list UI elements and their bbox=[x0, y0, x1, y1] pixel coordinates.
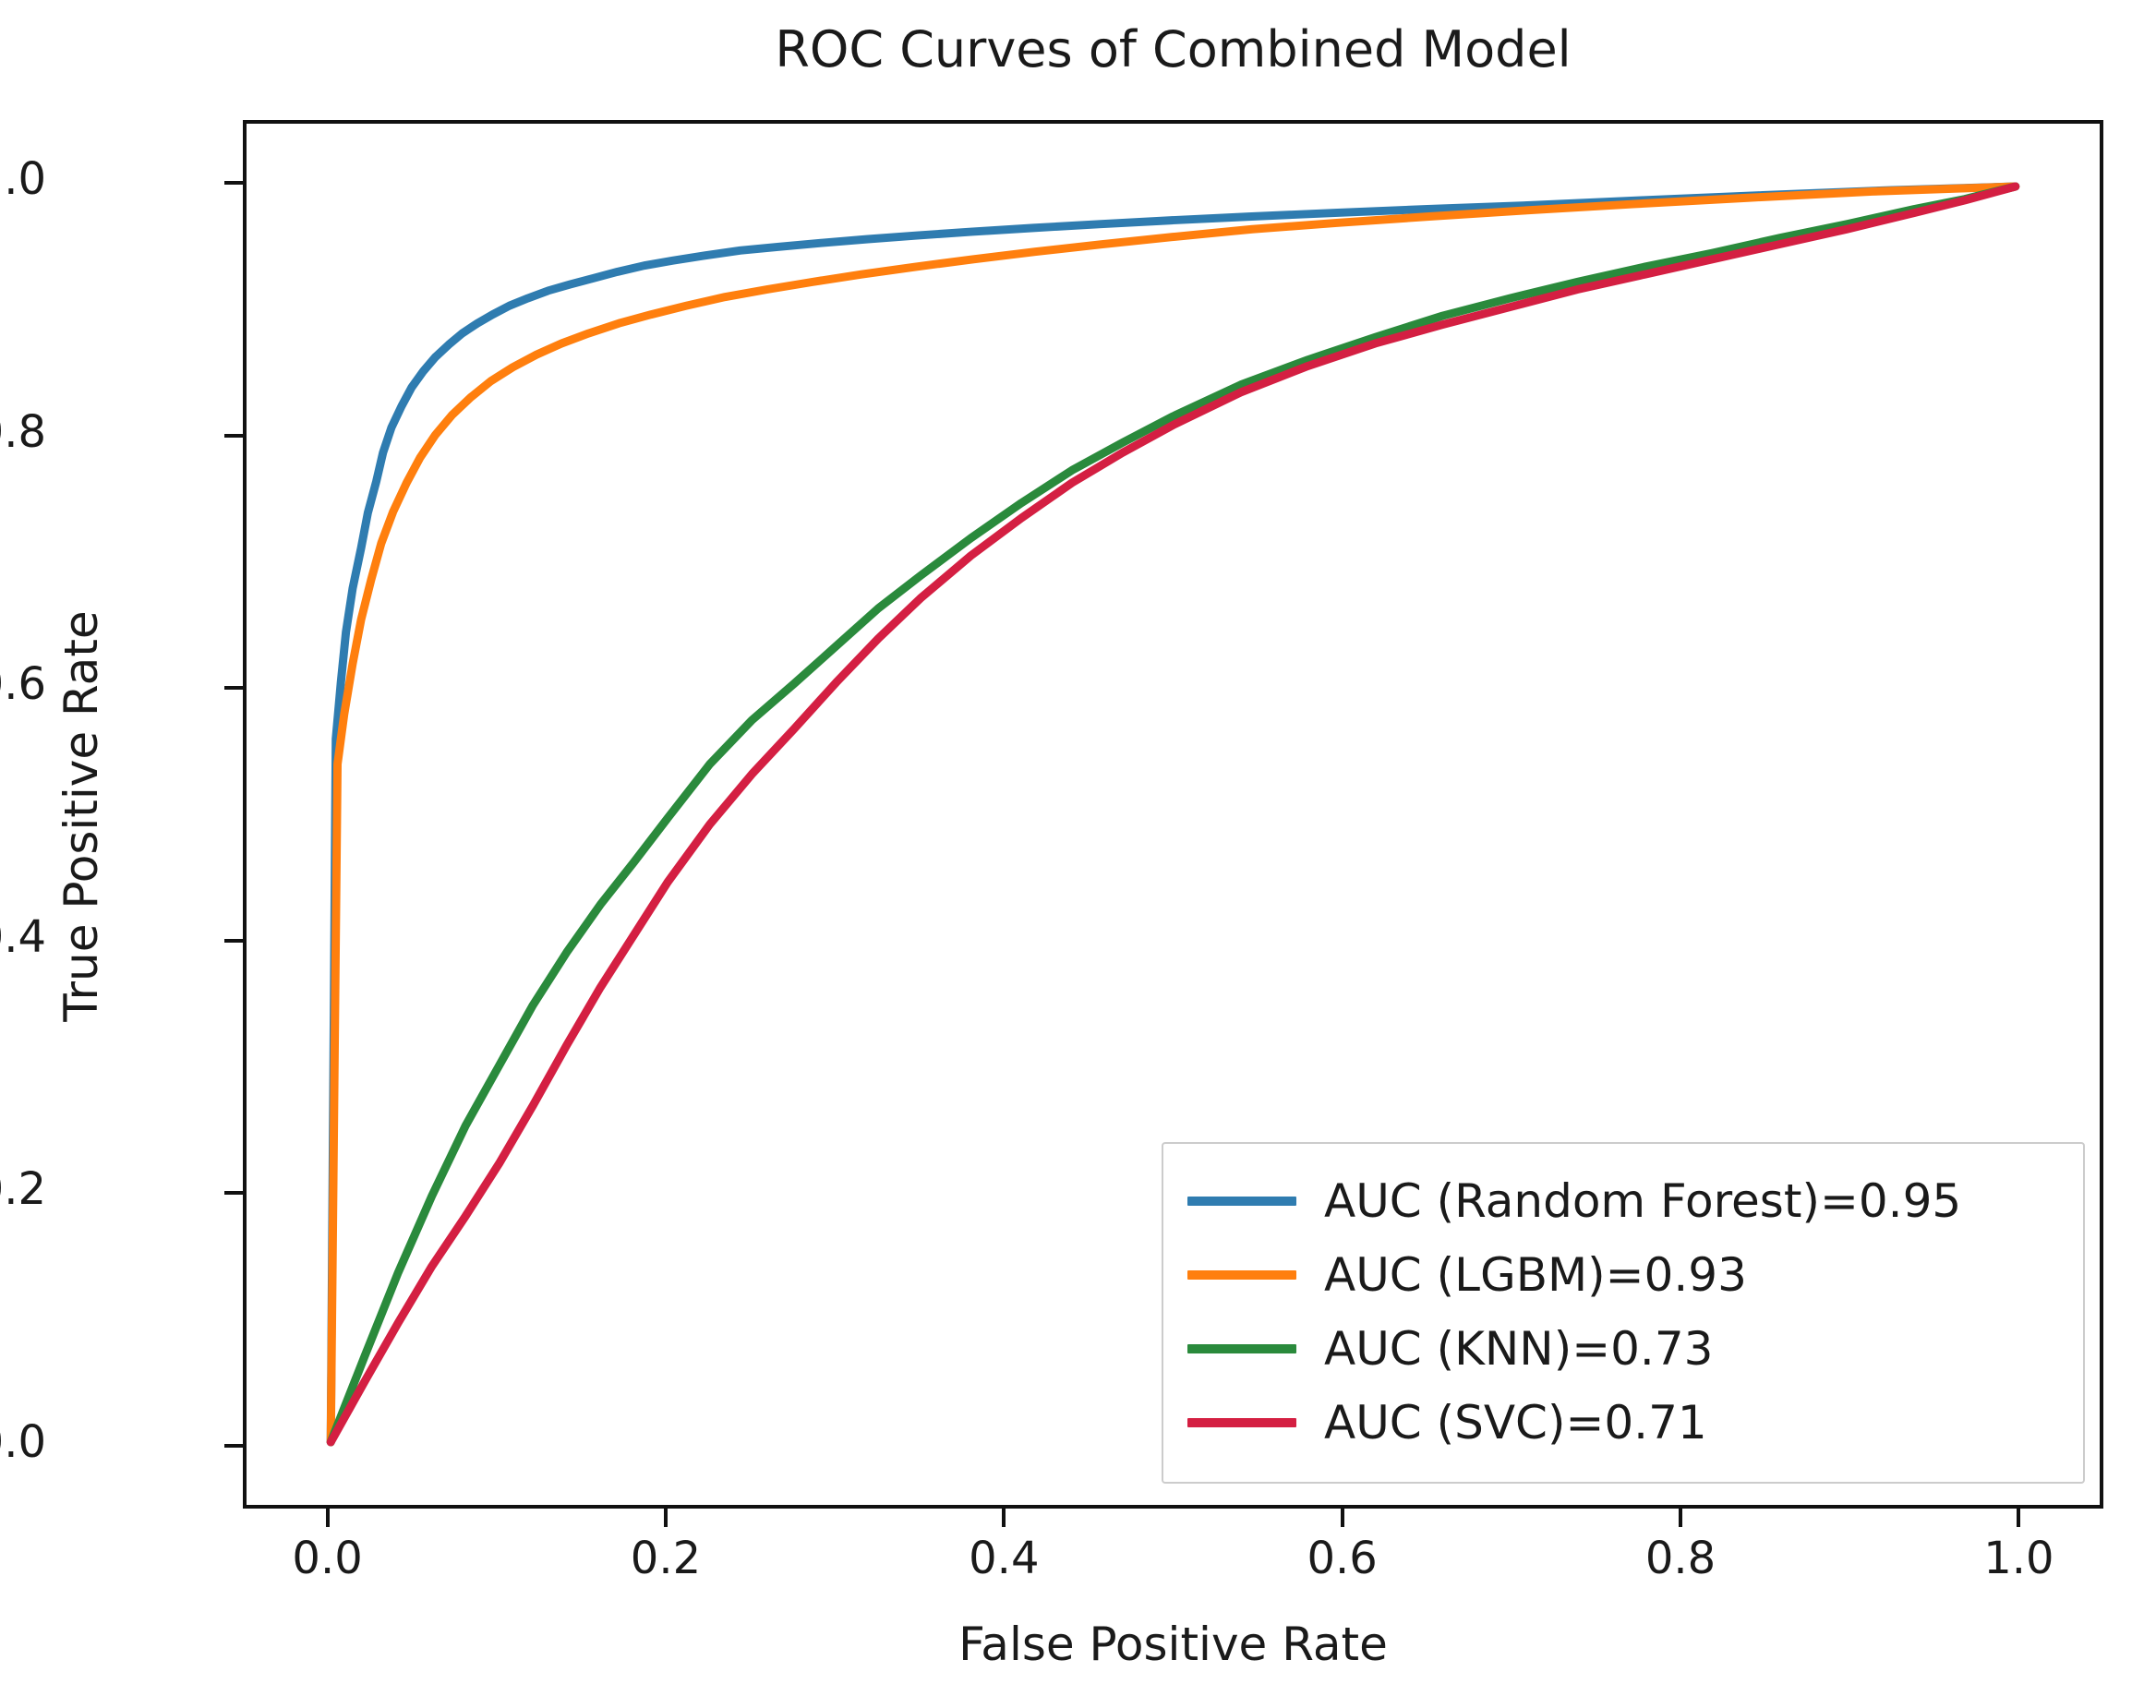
x-tick-label: 0.4 bbox=[969, 1533, 1039, 1584]
x-tick-label: 1.0 bbox=[1983, 1533, 2054, 1584]
legend-color-swatch bbox=[1187, 1418, 1296, 1427]
x-tick-mark bbox=[1341, 1509, 1344, 1527]
x-tick-mark bbox=[2017, 1509, 2020, 1527]
legend-item-label: AUC (LGBM)=0.93 bbox=[1324, 1252, 1747, 1298]
roc-chart-figure: ROC Curves of Combined Model True Positi… bbox=[0, 0, 2156, 1708]
x-tick-mark bbox=[1002, 1509, 1006, 1527]
y-tick-mark bbox=[224, 434, 243, 438]
y-tick-mark bbox=[224, 939, 243, 943]
x-tick-mark bbox=[664, 1509, 668, 1527]
x-tick-label: 0.0 bbox=[292, 1533, 362, 1584]
legend-box: AUC (Random Forest)=0.95AUC (LGBM)=0.93A… bbox=[1162, 1142, 2085, 1484]
x-tick-mark bbox=[326, 1509, 330, 1527]
x-tick-mark bbox=[1679, 1509, 1682, 1527]
x-tick-label: 0.6 bbox=[1307, 1533, 1378, 1584]
y-tick-label: 0.8 bbox=[0, 406, 46, 458]
legend-item-label: AUC (Random Forest)=0.95 bbox=[1324, 1178, 1961, 1224]
y-tick-label: 0.0 bbox=[0, 1416, 46, 1468]
y-tick-label: 0.2 bbox=[0, 1163, 46, 1215]
y-tick-label: 0.6 bbox=[0, 658, 46, 710]
legend-item[interactable]: AUC (KNN)=0.73 bbox=[1187, 1312, 2059, 1386]
legend-item[interactable]: AUC (LGBM)=0.93 bbox=[1187, 1238, 2059, 1312]
x-tick-label: 0.8 bbox=[1645, 1533, 1716, 1584]
y-tick-mark bbox=[224, 686, 243, 690]
legend-item[interactable]: AUC (Random Forest)=0.95 bbox=[1187, 1164, 2059, 1238]
legend-item-label: AUC (SVC)=0.71 bbox=[1324, 1400, 1707, 1446]
y-tick-label: 1.0 bbox=[0, 153, 46, 205]
x-axis-label: False Positive Rate bbox=[243, 1618, 2103, 1671]
y-tick-label: 0.4 bbox=[0, 911, 46, 963]
legend-color-swatch bbox=[1187, 1197, 1296, 1206]
legend-color-swatch bbox=[1187, 1344, 1296, 1353]
y-tick-mark bbox=[224, 1191, 243, 1195]
y-tick-mark bbox=[224, 1444, 243, 1448]
y-tick-mark bbox=[224, 181, 243, 185]
legend-item[interactable]: AUC (SVC)=0.71 bbox=[1187, 1386, 2059, 1460]
y-axis-label: True Positive Rate bbox=[54, 493, 108, 1139]
legend-color-swatch bbox=[1187, 1270, 1296, 1280]
x-tick-label: 0.2 bbox=[631, 1533, 701, 1584]
legend-item-label: AUC (KNN)=0.73 bbox=[1324, 1326, 1713, 1372]
chart-title: ROC Curves of Combined Model bbox=[243, 20, 2103, 78]
